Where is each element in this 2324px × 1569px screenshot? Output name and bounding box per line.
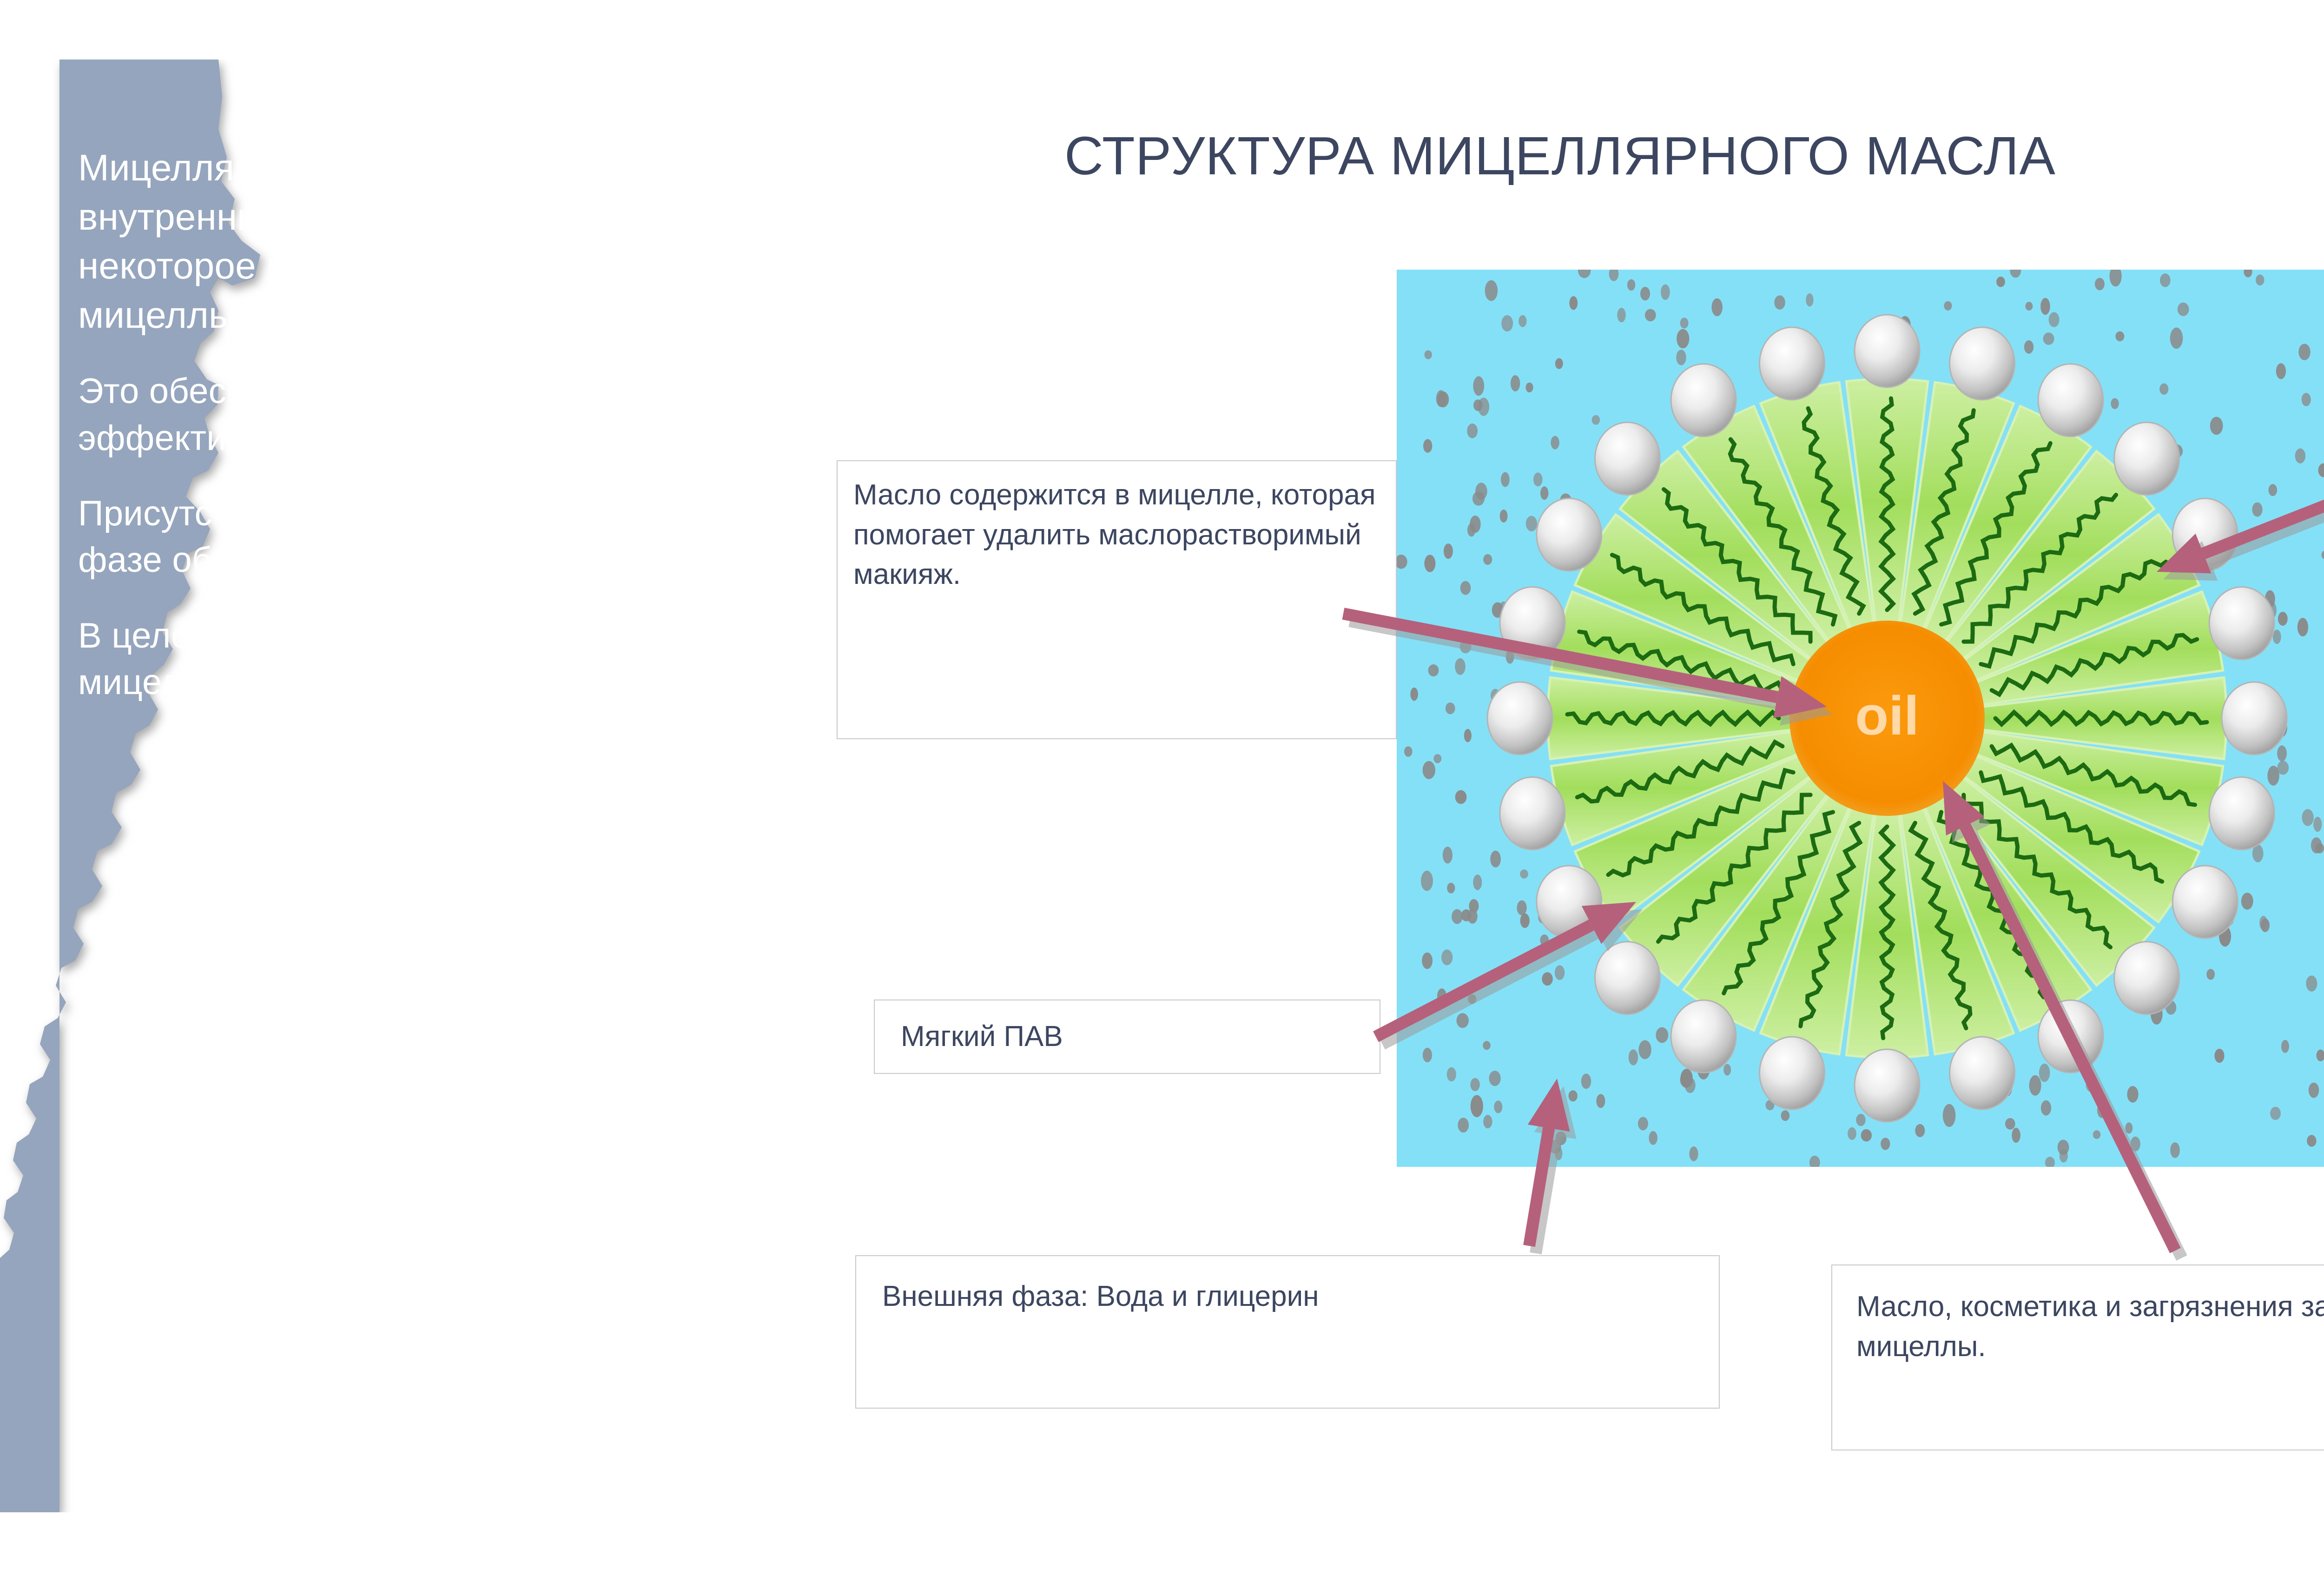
- sidebar-paragraph-3: Присутствие глицерина во внешней фазе об…: [78, 490, 715, 584]
- sidebar-paragraph-1: Мицеллярные масла имеют другую внутренню…: [78, 143, 715, 339]
- micelle-structure: oil: [1397, 270, 2324, 1167]
- micelle-diagram: oil: [1397, 270, 2324, 1167]
- callout-outer-phase[interactable]: Внешняя фаза: Вода и глицерин: [855, 1255, 1720, 1409]
- callout-core-traps[interactable]: Масло, косметика и загрязнения задержива…: [1831, 1264, 2324, 1450]
- sidebar-paragraph-2: Это обеспечивает более мягкое и эффектив…: [78, 368, 715, 462]
- sidebar-panel: Мицеллярные масла имеют другую внутренню…: [0, 60, 883, 1512]
- page-title: СТРУКТУРА МИЦЕЛЛЯРНОГО МАСЛА: [1064, 125, 2056, 187]
- callout-oil-in-micelle[interactable]: Масло содержится в мицелле, которая помо…: [837, 460, 1397, 739]
- sidebar-paragraph-4: В целом менее сушит кожу, чем мицеллярна…: [78, 613, 715, 706]
- oil-core-label: oil: [1855, 685, 1919, 747]
- callout-mild-surfactant[interactable]: Мягкий ПАВ: [874, 1000, 1380, 1074]
- sidebar-body-text: Мицеллярные масла имеют другую внутренню…: [78, 143, 715, 706]
